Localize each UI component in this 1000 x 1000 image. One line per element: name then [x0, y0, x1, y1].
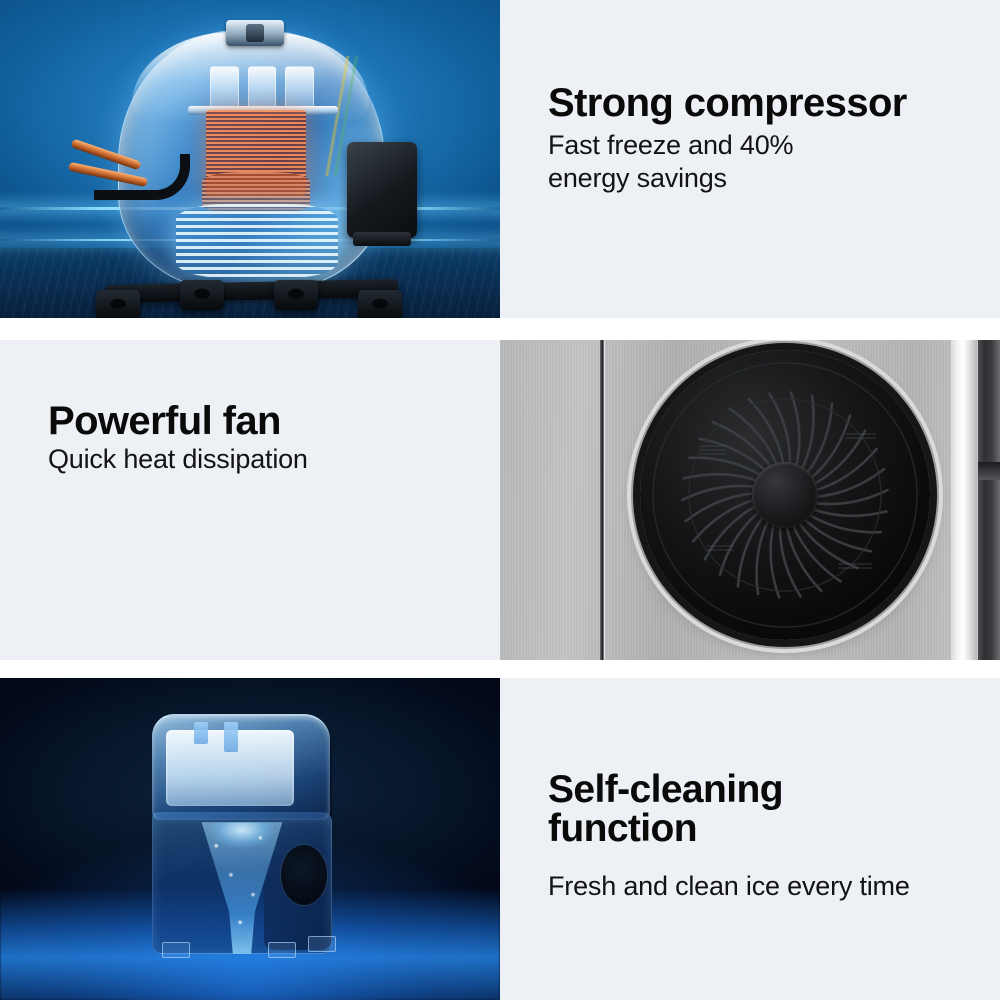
mounting-foot: [180, 280, 224, 310]
support-foot: [308, 936, 336, 952]
base-bar: [106, 279, 398, 303]
mounting-base: [96, 274, 406, 318]
support-foot: [162, 942, 190, 958]
self-cleaning-subheading: Fresh and clean ice every time: [548, 870, 982, 903]
fan-text-block: Powerful fan Quick heat dissipation: [48, 402, 482, 476]
panel-seam-left: [600, 340, 605, 660]
lid-tab: [194, 722, 208, 744]
self-cleaning-text-block: Self-cleaning function Fresh and clean i…: [548, 770, 982, 903]
top-mount-bracket: [226, 20, 284, 46]
valve-port: [248, 66, 277, 110]
compressor-text-pane: Strong compressor Fast freeze and 40% en…: [500, 0, 1000, 318]
fan-grille: [640, 350, 930, 640]
valve-ports: [210, 66, 314, 110]
suction-pipes: [66, 148, 176, 214]
panel-seam-right: [951, 340, 977, 660]
door-handle: [978, 340, 1000, 660]
panel-strong-compressor: Strong compressor Fast freeze and 40% en…: [0, 0, 1000, 318]
ice-maker-lid: [152, 714, 330, 820]
infographic-sheet: Strong compressor Fast freeze and 40% en…: [0, 0, 1000, 1000]
compressor-unit: [118, 22, 383, 290]
ice-maker-unit: [152, 714, 352, 966]
fan-center-hub: [752, 462, 818, 528]
mounting-foot: [274, 280, 318, 310]
compressor-subheading: Fast freeze and 40% energy savings: [548, 129, 982, 195]
compressor-text-block: Strong compressor Fast freeze and 40% en…: [548, 84, 982, 195]
fan-text-pane: Powerful fan Quick heat dissipation: [0, 340, 500, 660]
electrical-box: [347, 142, 417, 238]
valve-port: [210, 66, 239, 110]
compressor-scene-background: [0, 0, 500, 318]
self-cleaning-heading: Self-cleaning function: [548, 770, 982, 848]
mounting-foot: [96, 290, 140, 318]
fan-subheading: Quick heat dissipation: [48, 443, 482, 476]
compressor-heading: Strong compressor: [548, 84, 982, 123]
black-pipe-loop: [94, 154, 190, 200]
mounting-foot: [358, 290, 402, 318]
panel-self-cleaning-function: Self-cleaning function Fresh and clean i…: [0, 678, 1000, 1000]
fan-image: [500, 340, 1000, 660]
self-cleaning-text-pane: Self-cleaning function Fresh and clean i…: [500, 678, 1000, 1000]
support-foot: [268, 942, 296, 958]
stainless-panel-background: [500, 340, 1000, 660]
valve-port: [285, 66, 314, 110]
fan-heading: Powerful fan: [48, 402, 482, 441]
ice-maker-vent-fan: [280, 844, 328, 906]
compressor-image: [0, 0, 500, 318]
lid-tab: [224, 722, 238, 752]
ice-maker-image: [0, 678, 500, 1000]
panel-powerful-fan: Powerful fan Quick heat dissipation: [0, 340, 1000, 660]
cooling-fins: [176, 204, 338, 278]
ice-maker-scene-background: [0, 678, 500, 1000]
